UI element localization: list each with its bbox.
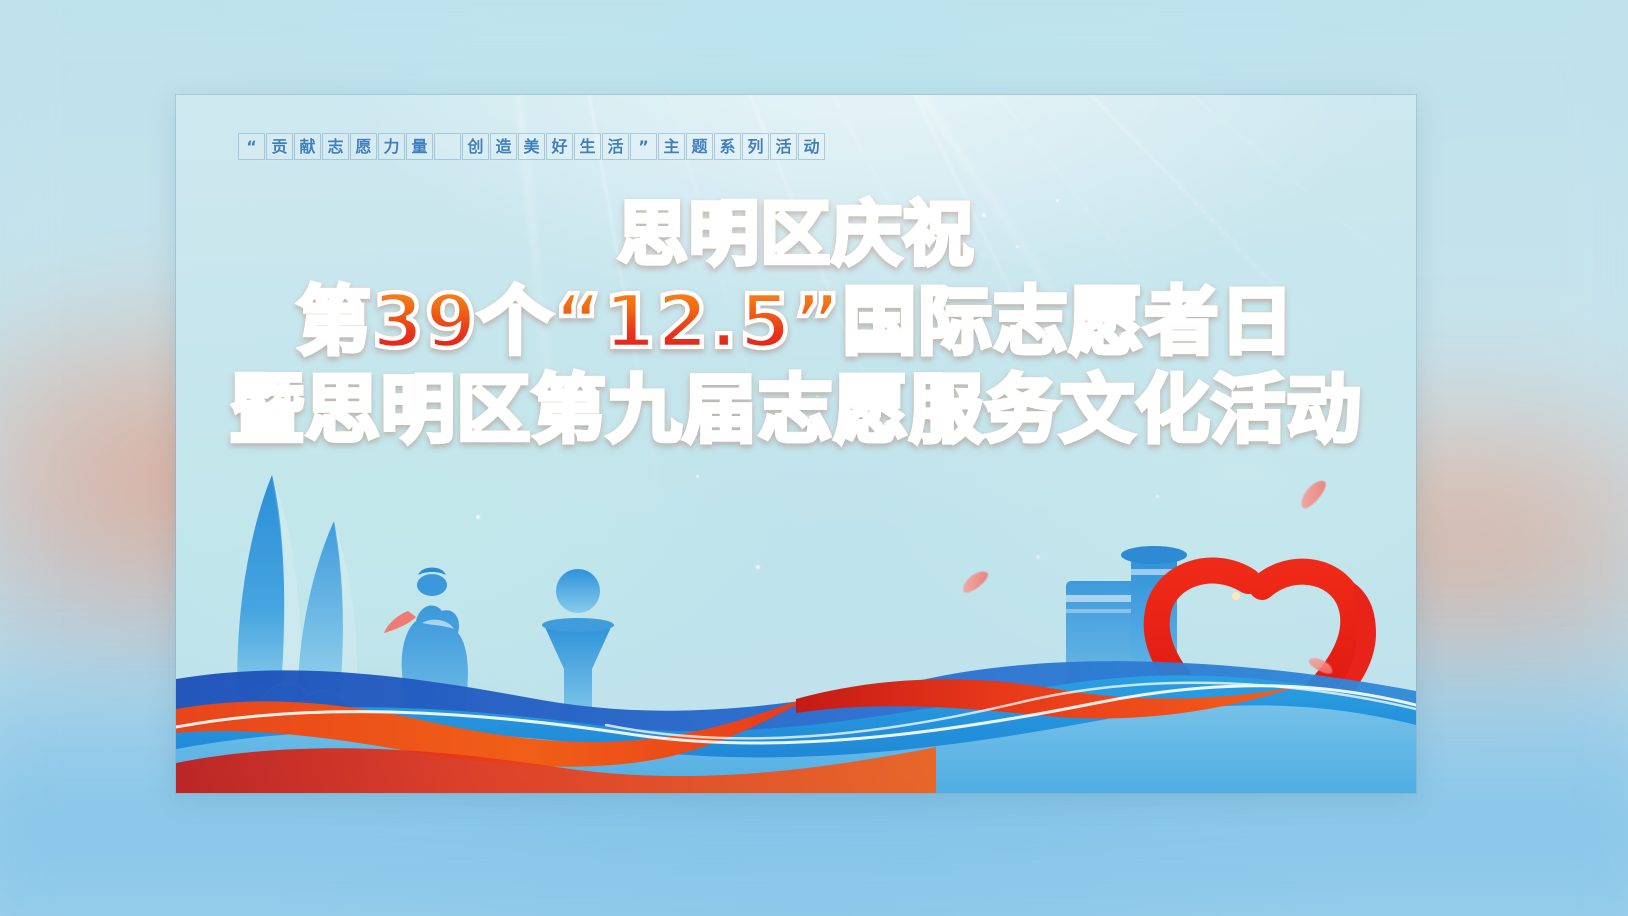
poster-stage: “贡献志愿力量 创造美好生活”主题系列活动 思明区庆祝 第39个“12.5”国际… xyxy=(0,0,1628,916)
theme-bar-cell-13: 活 xyxy=(602,133,629,160)
theme-bar-cell-19: 活 xyxy=(770,133,797,160)
theme-bar-cell-3: 志 xyxy=(322,133,349,160)
theme-bar-cell-4: 愿 xyxy=(350,133,377,160)
theme-bar-cell-0: “ xyxy=(238,133,265,160)
theme-bar-cell-16: 题 xyxy=(686,133,713,160)
sail-left xyxy=(237,475,301,701)
headline-line-3: 暨思明区第九届志愿服务文化活动 xyxy=(176,373,1416,447)
poster-card: “贡献志愿力量 创造美好生活”主题系列活动 思明区庆祝 第39个“12.5”国际… xyxy=(176,95,1416,793)
theme-bar-cell-20: 动 xyxy=(798,133,825,160)
headline-line-1: 思明区庆祝 xyxy=(176,199,1416,269)
wave-stack xyxy=(176,661,1416,793)
theme-bar-cell-5: 力 xyxy=(378,133,405,160)
theme-bar-cell-2: 献 xyxy=(294,133,321,160)
theme-bar-cell-15: 主 xyxy=(658,133,685,160)
scenery-svg xyxy=(176,463,1416,793)
theme-bar-cell-8: 创 xyxy=(462,133,489,160)
headline-block: 思明区庆祝 第39个“12.5”国际志愿者日 暨思明区第九届志愿服务文化活动 xyxy=(176,199,1416,447)
theme-bar-cell-1: 贡 xyxy=(266,133,293,160)
theme-bar-cell-17: 系 xyxy=(714,133,741,160)
theme-bar-cell-11: 好 xyxy=(546,133,573,160)
headline-line-2: 第39个“12.5”国际志愿者日 xyxy=(176,285,1416,359)
theme-bar-cell-12: 生 xyxy=(574,133,601,160)
scenery-illustration xyxy=(176,463,1416,793)
theme-bar-cell-18: 列 xyxy=(742,133,769,160)
theme-bar-cell-14: ” xyxy=(630,133,657,160)
theme-bar-cell-9: 造 xyxy=(490,133,517,160)
theme-series-activities-bar: “贡献志愿力量 创造美好生活”主题系列活动 xyxy=(238,133,826,160)
theme-bar-cell-7 xyxy=(434,133,461,160)
theme-bar-cell-10: 美 xyxy=(518,133,545,160)
theme-bar-cell-6: 量 xyxy=(406,133,433,160)
